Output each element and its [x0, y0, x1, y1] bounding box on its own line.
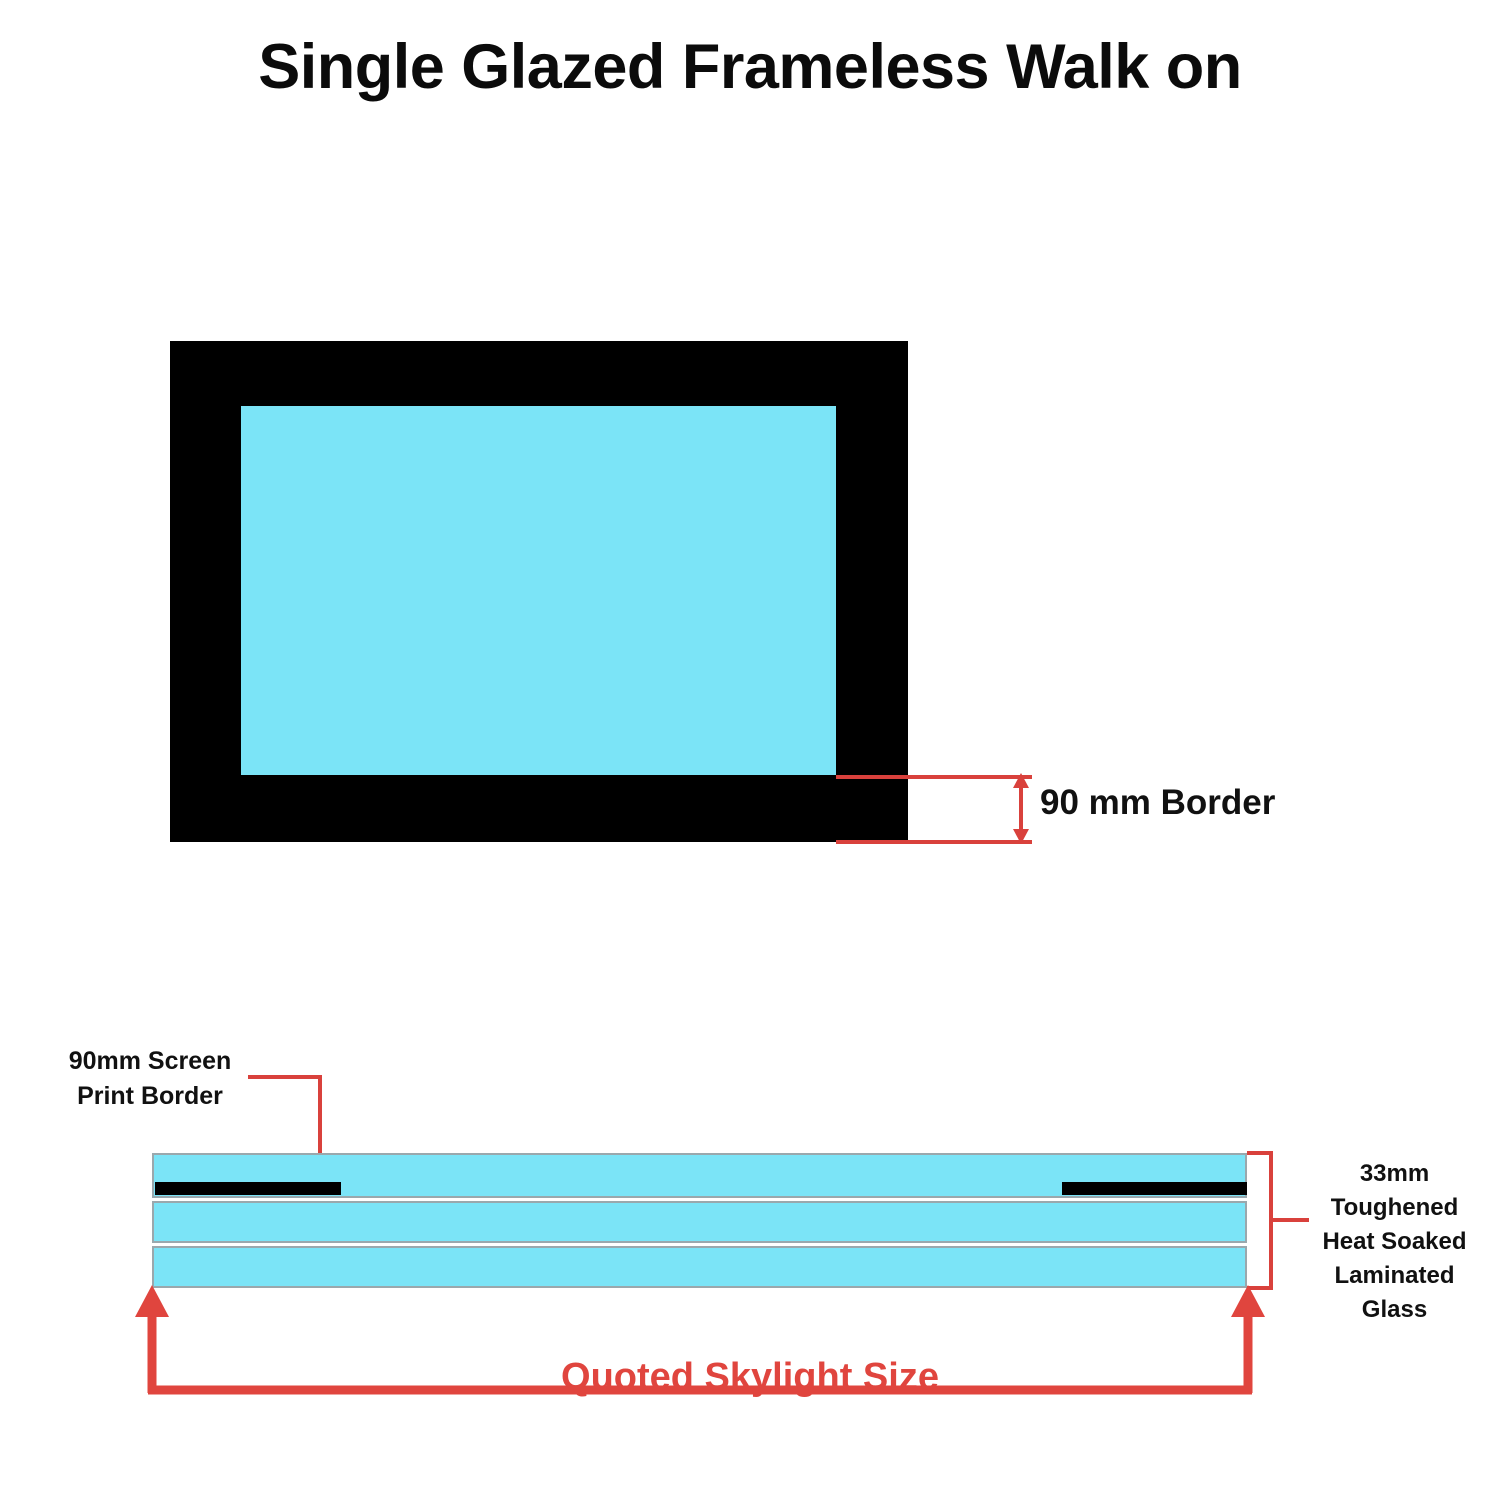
quoted-size-label: Quoted Skylight Size [0, 1356, 1500, 1399]
glass-spec-line3: Heat Soaked [1302, 1225, 1487, 1259]
screen-print-border-label-line1: 90mm Screen [40, 1044, 260, 1079]
glass-spec-line2: Toughened [1302, 1191, 1487, 1225]
skylight-specification-diagram: Single Glazed Frameless Walk on 90 mm Bo… [0, 0, 1500, 1500]
glass-ply-middle [152, 1201, 1247, 1243]
glass-spec-line4: Laminated Glass [1302, 1259, 1487, 1327]
glass-specification-label: 33mm Toughened Heat Soaked Laminated Gla… [1302, 1157, 1487, 1327]
glass-ply-bottom [152, 1246, 1247, 1288]
screen-print-border-label-line2: Print Border [40, 1079, 260, 1114]
print-band-left [155, 1182, 341, 1195]
border-dimension-label: 90 mm Border [1040, 783, 1275, 823]
border-dimension-arrow [1008, 773, 1034, 844]
screen-print-leader-horizontal [248, 1075, 322, 1079]
plan-extension-line-top [836, 775, 1032, 779]
glass-spec-line1: 33mm [1302, 1157, 1487, 1191]
print-band-right [1062, 1182, 1247, 1195]
page-title: Single Glazed Frameless Walk on [0, 34, 1500, 100]
plan-view-clear-glass-area [241, 406, 836, 775]
screen-print-border-label: 90mm Screen Print Border [40, 1044, 260, 1113]
plan-extension-line-bottom [836, 840, 1032, 844]
